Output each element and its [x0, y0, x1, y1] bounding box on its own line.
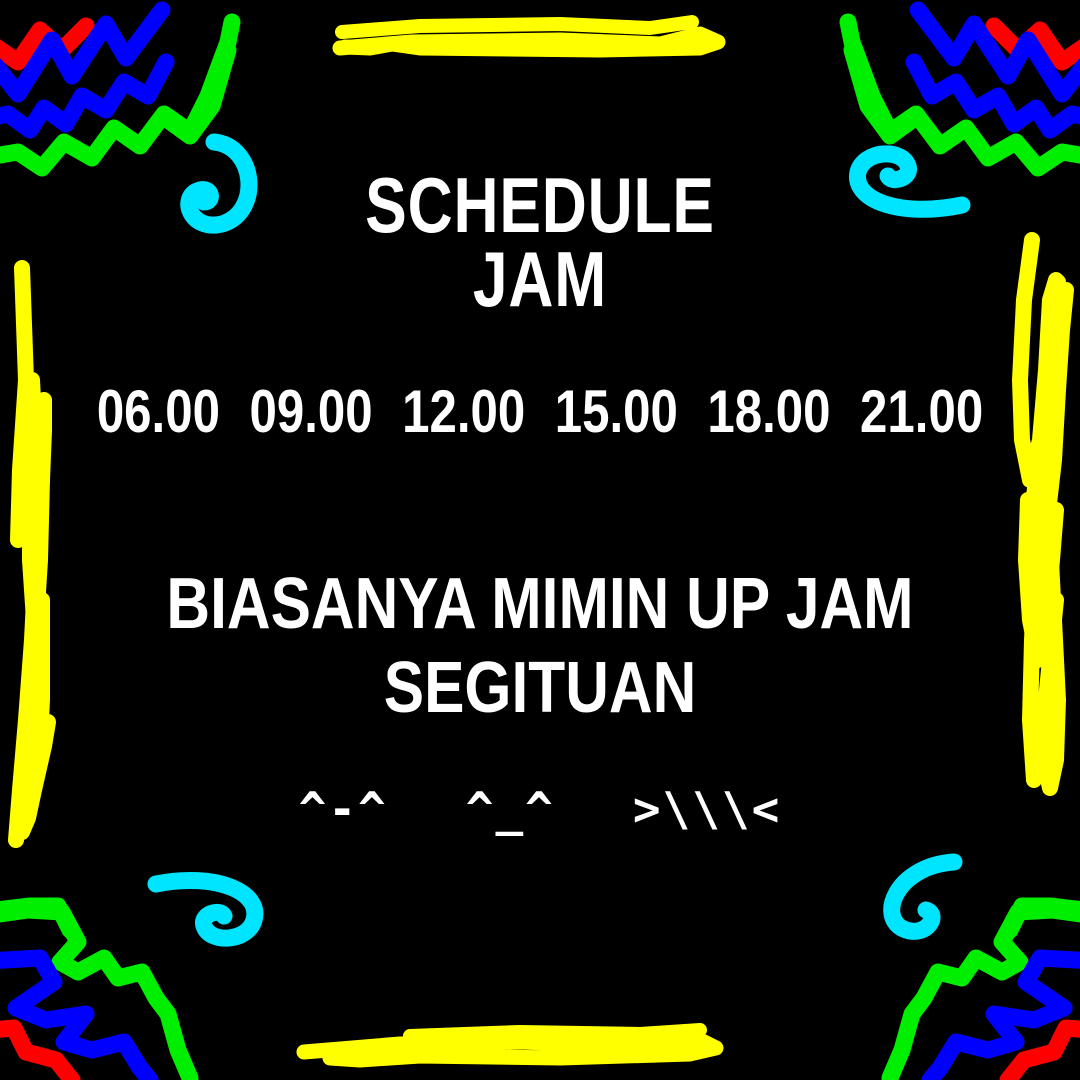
emoticon: ^-^: [299, 786, 388, 832]
schedule-times-row: 06.00 09.00 12.00 15.00 18.00 21.00: [97, 382, 983, 442]
poster-title: SCHEDULE JAM: [108, 168, 972, 316]
schedule-time: 21.00: [860, 382, 983, 442]
poster-message: BIASANYA MIMIN UP JAM SEGITUAN: [86, 562, 993, 730]
message-line-2: SEGITUAN: [86, 646, 993, 730]
schedule-time: 06.00: [97, 382, 220, 442]
emoticon: ^_^: [466, 786, 555, 832]
emoticon-row: ^-^ ^_^ >\\\<: [0, 786, 1080, 832]
emoticon: >\\\<: [633, 786, 781, 832]
poster-content: SCHEDULE JAM 06.00 09.00 12.00 15.00 18.…: [0, 0, 1080, 1080]
title-line-2: JAM: [108, 242, 972, 316]
schedule-time: 12.00: [402, 382, 525, 442]
schedule-time: 09.00: [249, 382, 372, 442]
schedule-time: 15.00: [555, 382, 678, 442]
title-line-1: SCHEDULE: [108, 168, 972, 242]
message-line-1: BIASANYA MIMIN UP JAM: [86, 562, 993, 646]
poster-canvas: SCHEDULE JAM 06.00 09.00 12.00 15.00 18.…: [0, 0, 1080, 1080]
schedule-time: 18.00: [707, 382, 830, 442]
